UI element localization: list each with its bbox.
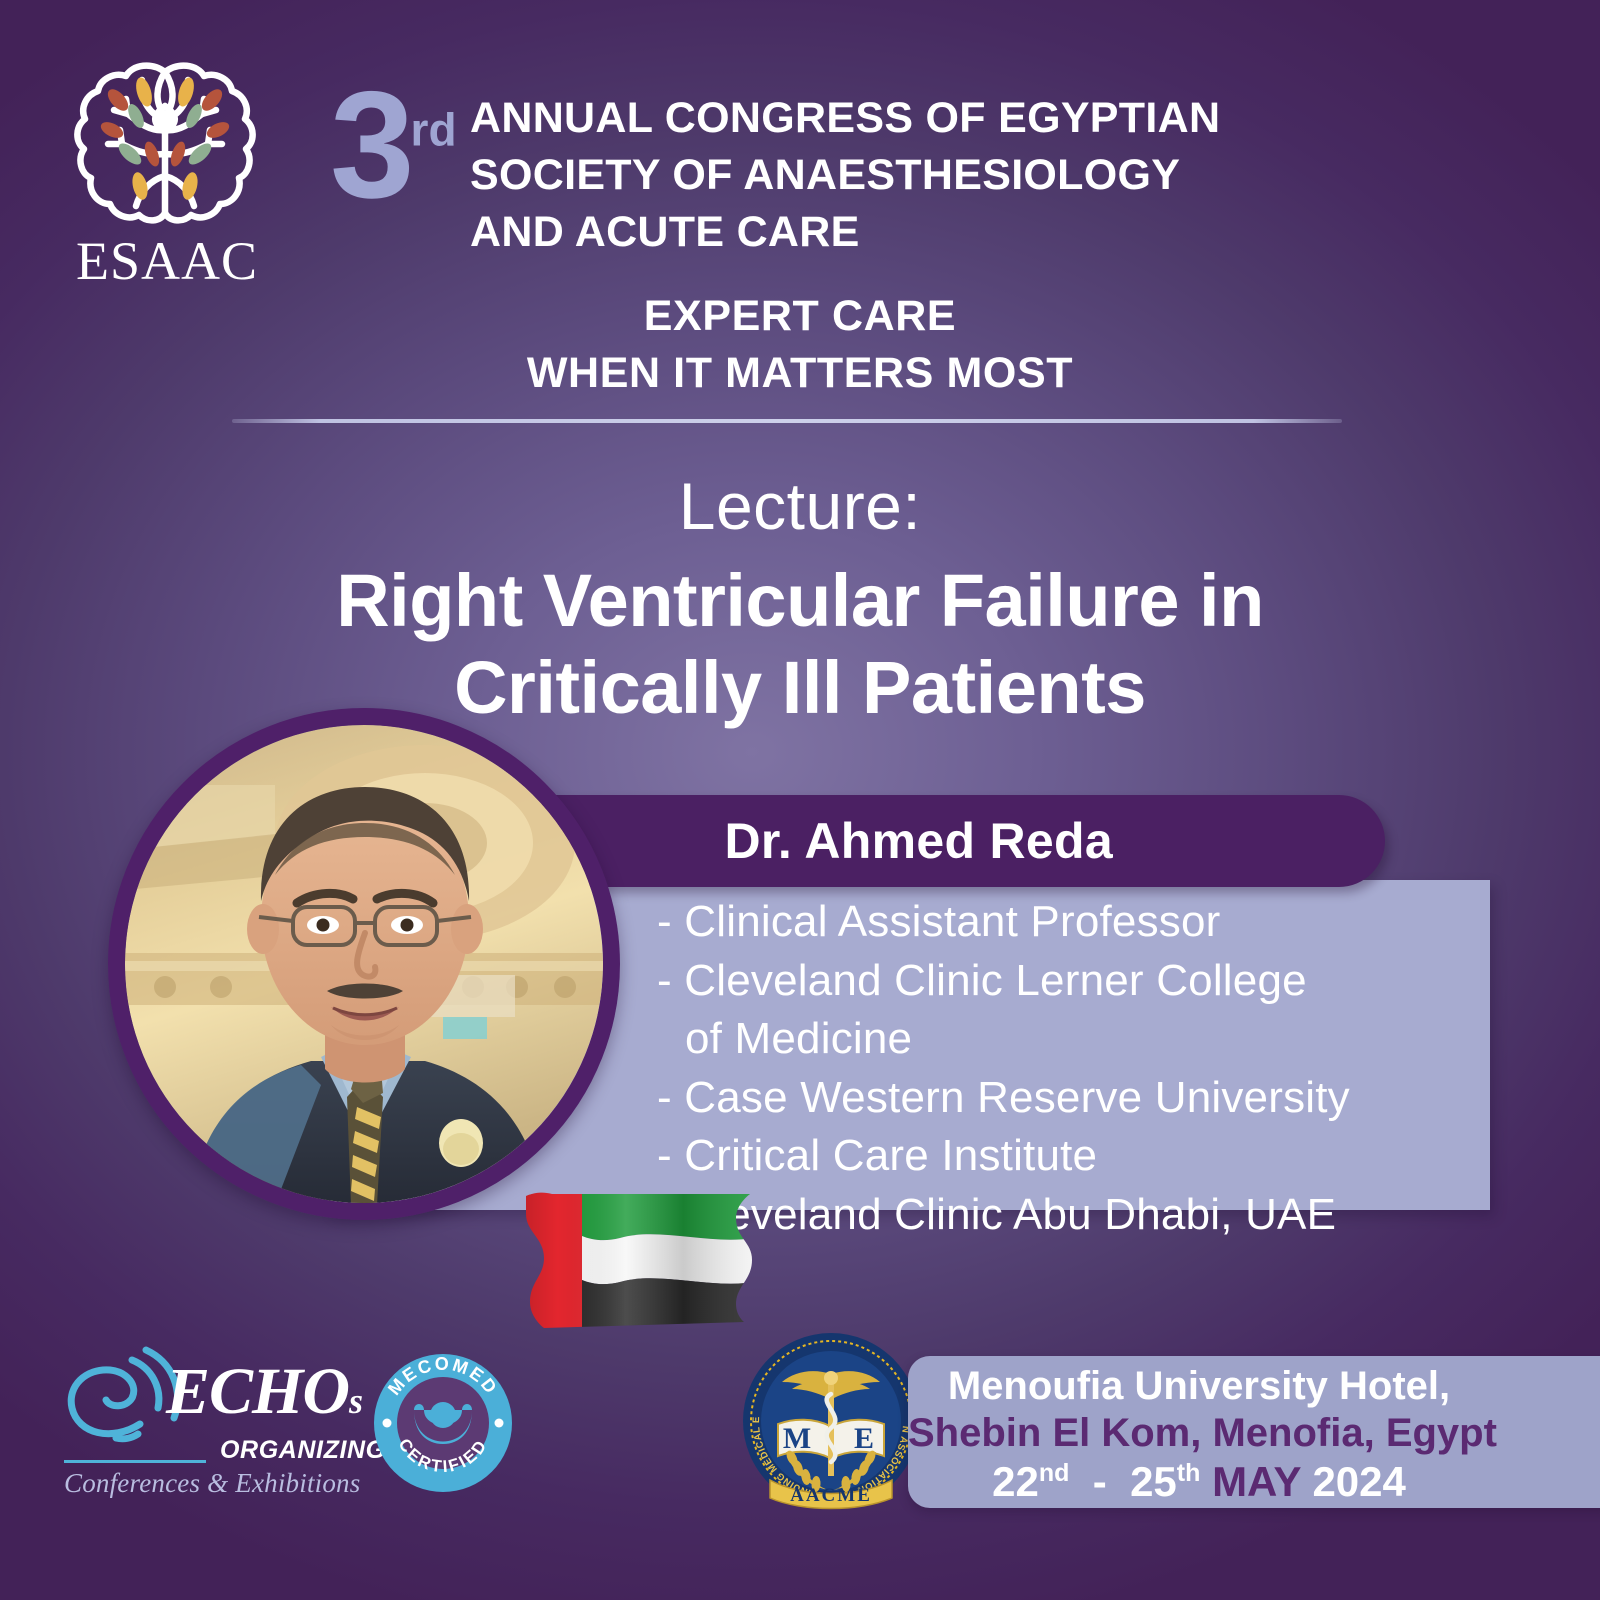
brain-mandala-icon	[70, 58, 260, 228]
organizer-subtitle: Conferences & Exhibitions	[64, 1468, 360, 1499]
speaker-name: Dr. Ahmed Reda	[724, 812, 1113, 870]
date-end: 25	[1130, 1458, 1177, 1505]
esaac-logo: ESAAC	[62, 58, 272, 288]
lecture-title-line1: Right Ventricular Failure in	[0, 557, 1600, 644]
lecture-title: Right Ventricular Failure in Critically …	[0, 557, 1600, 732]
ordinal-suffix: rd	[411, 103, 457, 155]
organizer-role: ORGANIZING	[220, 1436, 386, 1465]
echo-swoosh-icon	[62, 1342, 180, 1462]
congress-title-line1: ANNUAL CONGRESS OF EGYPTIAN	[470, 90, 1290, 147]
date-start: 22	[992, 1458, 1039, 1505]
esaac-wordmark: ESAAC	[62, 230, 272, 292]
mecomed-certified-badge: MECOMED CERTIFIED	[368, 1348, 518, 1498]
aacme-book-right-letter: E	[854, 1422, 874, 1455]
uae-flag-icon	[500, 1182, 762, 1332]
avatar	[125, 725, 603, 1203]
congress-tagline: EXPERT CARE WHEN IT MATTERS MOST	[0, 288, 1600, 402]
echos-name: ECHO	[166, 1355, 349, 1428]
speaker-photo	[108, 708, 620, 1220]
tagline-line2: WHEN IT MATTERS MOST	[0, 345, 1600, 402]
lecture-block: Lecture: Right Ventricular Failure in Cr…	[0, 470, 1600, 731]
venue-name: Menoufia University Hotel,	[908, 1364, 1490, 1409]
lecture-title-line2: Critically Ill Patients	[0, 644, 1600, 731]
lecture-label: Lecture:	[0, 470, 1600, 543]
congress-title-line3: AND ACUTE CARE	[470, 204, 1290, 261]
tagline-line1: EXPERT CARE	[0, 288, 1600, 345]
echos-rule	[64, 1460, 206, 1463]
page-title: ANNUAL CONGRESS OF EGYPTIAN SOCIETY OF A…	[470, 90, 1290, 262]
venue-date-box: Menoufia University Hotel, Shebin El Kom…	[908, 1356, 1600, 1508]
venue-city: Shebin El Kom, Menofia, Egypt	[908, 1411, 1490, 1456]
ordinal-number: 3rd	[330, 86, 457, 205]
conference-poster: ESAAC 3rd ANNUAL CONGRESS OF EGYPTIAN SO…	[0, 0, 1600, 1600]
congress-title-line2: SOCIETY OF ANAESTHESIOLOGY	[470, 147, 1290, 204]
echos-name-suffix: s	[349, 1381, 362, 1421]
portrait-illustration	[125, 725, 603, 1203]
date-month: MAY	[1212, 1458, 1301, 1505]
ordinal-digit: 3	[330, 60, 411, 230]
aacme-banner-text: AACME	[790, 1485, 872, 1506]
echos-wordmark: ECHOs	[166, 1354, 362, 1430]
aacme-seal: AMERICAN ASSOCIATION of CONTINUING MEDIC…	[742, 1332, 920, 1510]
date-dash: -	[1093, 1458, 1107, 1505]
date-end-suffix: th	[1177, 1459, 1201, 1487]
header-divider	[232, 419, 1342, 423]
echos-organizer-logo: ECHOs ORGANIZING Conferences & Exhibitio…	[62, 1340, 392, 1510]
aacme-book-left-letter: M	[783, 1422, 811, 1455]
event-dates: 22nd - 25th MAY 2024	[908, 1458, 1490, 1506]
date-year: 2024	[1312, 1458, 1405, 1505]
date-start-suffix: nd	[1039, 1459, 1070, 1487]
